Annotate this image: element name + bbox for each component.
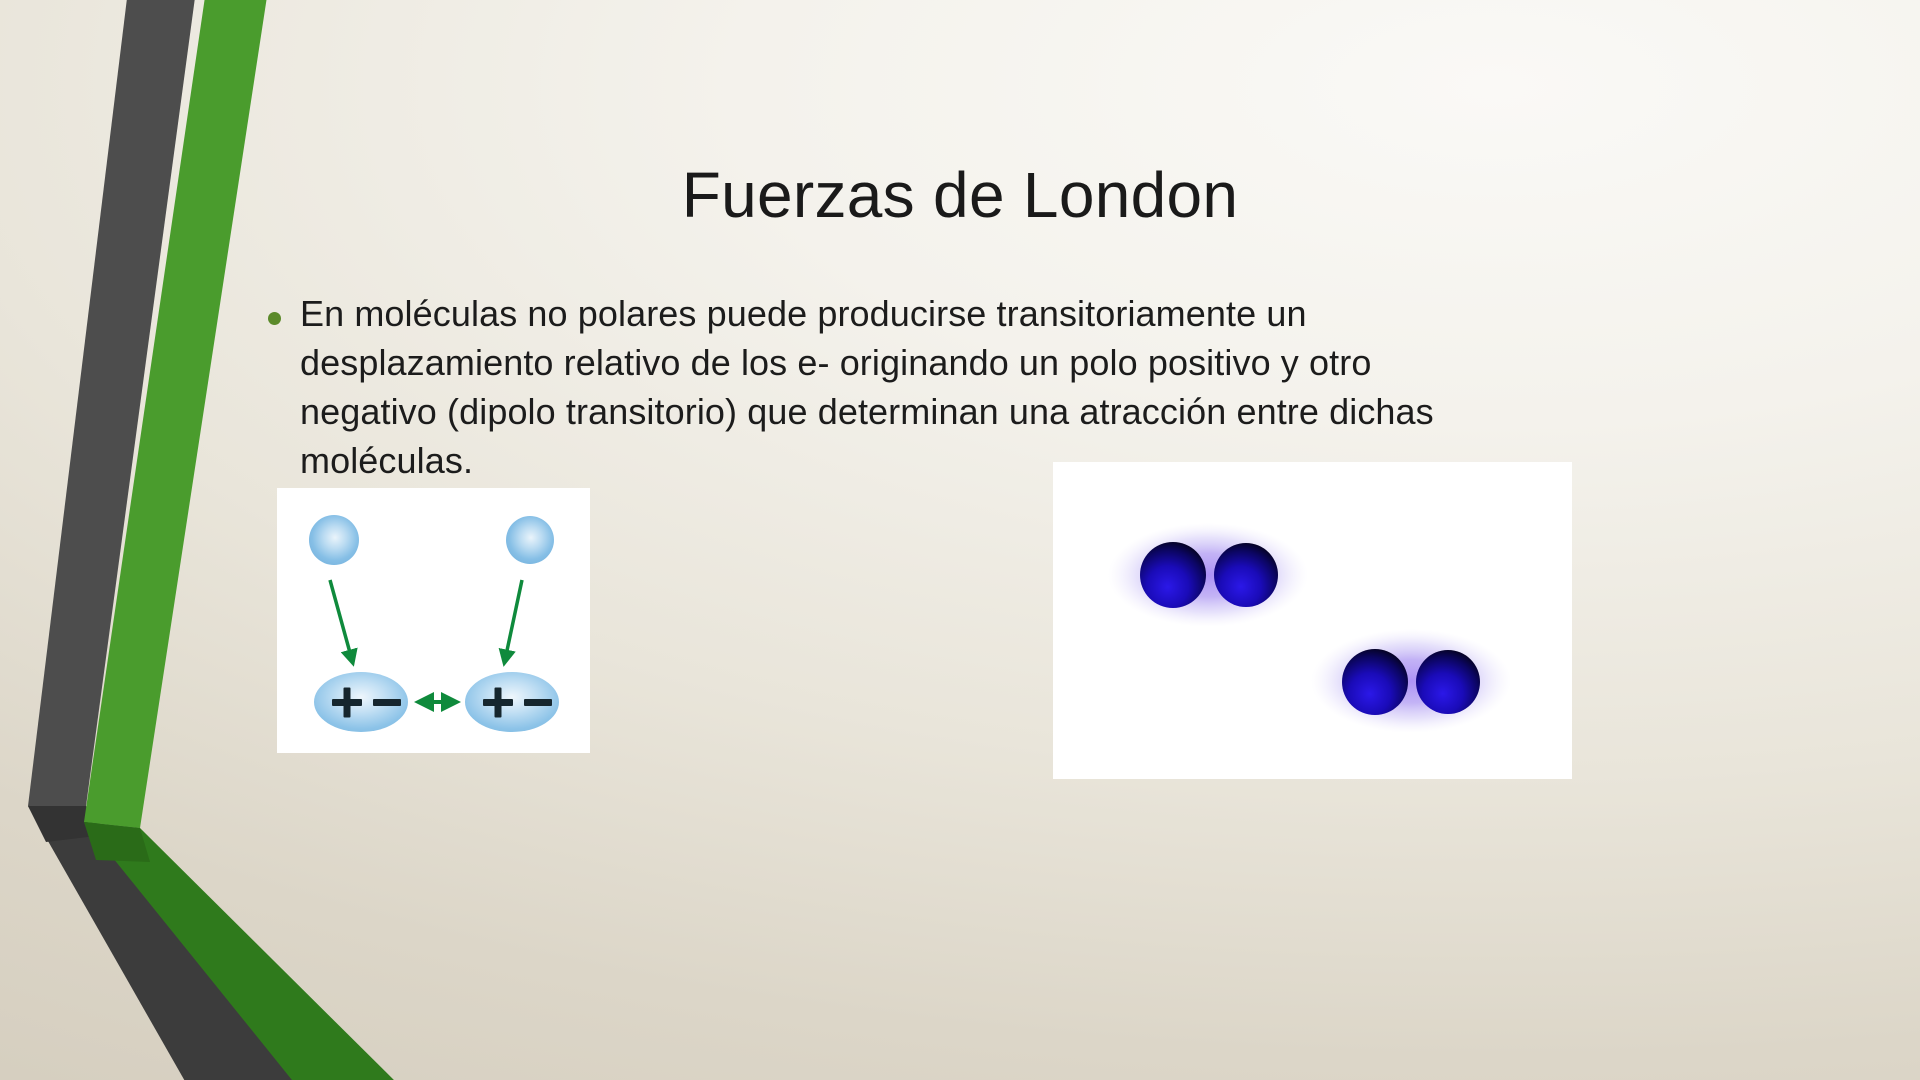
body-content: En moléculas no polares puede producirse… (258, 290, 1438, 486)
molecule-lower-right (1311, 629, 1511, 733)
bullet-text: En moléculas no polares puede producirse… (300, 293, 1434, 481)
presentation-slide: Fuerzas de London En moléculas no polare… (0, 0, 1920, 1080)
left-diagram-svg (277, 488, 590, 753)
page-title: Fuerzas de London (240, 160, 1680, 230)
london-dispersion-molecules (1053, 462, 1572, 779)
nucleus-right (1214, 543, 1278, 607)
bullet-dot-icon (268, 312, 281, 325)
atom-sphere-right (506, 516, 554, 564)
nucleus-left (1140, 542, 1206, 608)
right-diagram-svg (1053, 462, 1572, 779)
nucleus-right (1416, 650, 1480, 714)
dipole-induction-diagram (277, 488, 590, 753)
list-item: En moléculas no polares puede producirse… (258, 290, 1438, 486)
nucleus-left (1342, 649, 1408, 715)
electron-cloud (1311, 629, 1511, 733)
atom-sphere-left (309, 515, 359, 565)
molecule-upper-left (1108, 523, 1308, 627)
